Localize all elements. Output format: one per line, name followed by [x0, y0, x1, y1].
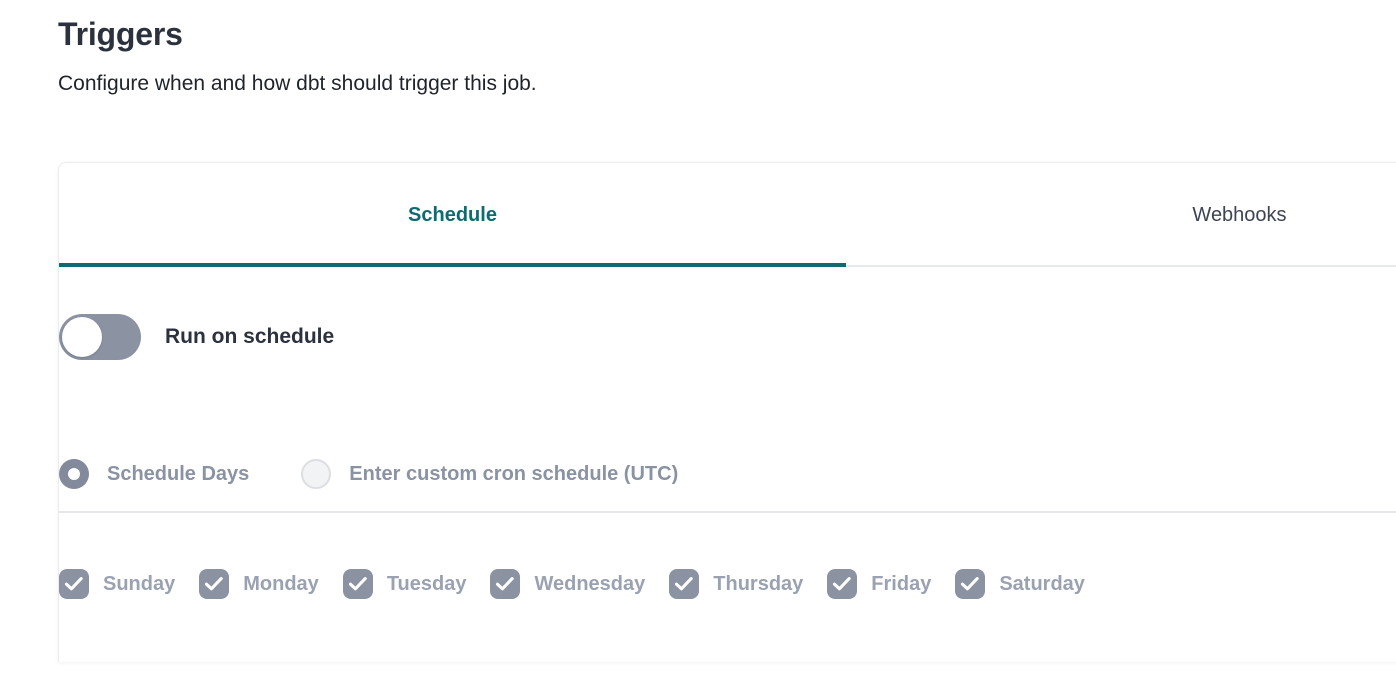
run-on-schedule-label: Run on schedule	[165, 323, 334, 351]
day-label-monday: Monday	[243, 571, 319, 597]
day-label-thursday: Thursday	[713, 571, 803, 597]
day-option-thursday[interactable]: Thursday	[669, 569, 803, 599]
page-subtitle: Configure when and how dbt should trigge…	[58, 70, 1058, 98]
radio-label-custom-cron: Enter custom cron schedule (UTC)	[349, 461, 678, 487]
tab-webhooks-label: Webhooks	[1192, 202, 1286, 228]
radio-label-schedule-days: Schedule Days	[107, 461, 249, 487]
toggle-knob	[62, 317, 102, 357]
radio-selected-icon	[59, 459, 89, 489]
checkbox-checked-icon	[199, 569, 229, 599]
page-title: Triggers	[58, 12, 1058, 56]
checkbox-checked-icon	[669, 569, 699, 599]
tab-webhooks[interactable]: Webhooks	[846, 163, 1396, 267]
active-tab-indicator	[59, 263, 846, 267]
day-option-tuesday[interactable]: Tuesday	[343, 569, 467, 599]
radio-option-schedule-days[interactable]: Schedule Days	[59, 459, 249, 489]
day-option-wednesday[interactable]: Wednesday	[490, 569, 645, 599]
checkbox-checked-icon	[343, 569, 373, 599]
radio-unselected-icon	[301, 459, 331, 489]
tab-schedule[interactable]: Schedule	[59, 163, 846, 267]
run-on-schedule-row: Run on schedule	[59, 314, 334, 360]
checkbox-checked-icon	[490, 569, 520, 599]
day-option-sunday[interactable]: Sunday	[59, 569, 175, 599]
section-divider	[59, 511, 1396, 513]
day-label-wednesday: Wednesday	[534, 571, 645, 597]
schedule-days-group: Sunday Monday Tuesday	[59, 569, 1085, 599]
checkbox-checked-icon	[827, 569, 857, 599]
tab-schedule-label: Schedule	[408, 202, 497, 228]
page-header: Triggers Configure when and how dbt shou…	[58, 12, 1058, 98]
run-on-schedule-toggle[interactable]	[59, 314, 141, 360]
day-label-saturday: Saturday	[999, 571, 1085, 597]
day-option-saturday[interactable]: Saturday	[955, 569, 1085, 599]
checkbox-checked-icon	[955, 569, 985, 599]
radio-option-custom-cron[interactable]: Enter custom cron schedule (UTC)	[301, 459, 678, 489]
schedule-mode-radio-group: Schedule Days Enter custom cron schedule…	[59, 459, 678, 489]
day-option-monday[interactable]: Monday	[199, 569, 319, 599]
day-label-friday: Friday	[871, 571, 931, 597]
day-option-friday[interactable]: Friday	[827, 569, 931, 599]
checkbox-checked-icon	[59, 569, 89, 599]
tab-bar: Schedule Webhooks	[59, 163, 1396, 267]
day-label-tuesday: Tuesday	[387, 571, 467, 597]
day-label-sunday: Sunday	[103, 571, 175, 597]
triggers-card: Schedule Webhooks Run on schedule Schedu…	[58, 162, 1396, 662]
triggers-page: Triggers Configure when and how dbt shou…	[0, 0, 1396, 680]
